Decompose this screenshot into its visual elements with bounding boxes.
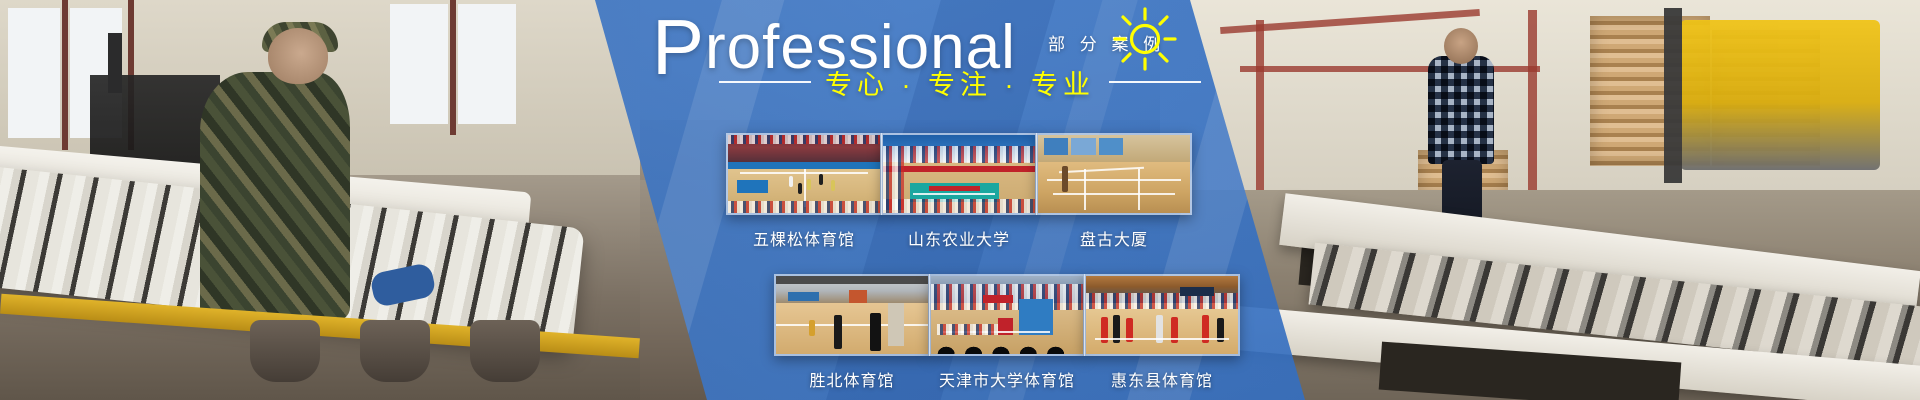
subtitle-row: 专心 · 专注 · 专业 xyxy=(595,62,1325,102)
case-thumbnail[interactable] xyxy=(726,133,882,215)
case-thumbnail[interactable] xyxy=(1036,133,1192,215)
case-card[interactable]: 惠东县体育馆 xyxy=(1084,274,1240,391)
rule-right xyxy=(1109,81,1201,83)
case-caption: 山东农业大学 xyxy=(881,226,1037,250)
case-caption: 天津市大学体育馆 xyxy=(907,367,1107,391)
subtitle: 专心 · 专注 · 专业 xyxy=(825,63,1095,102)
case-caption: 盘古大厦 xyxy=(1036,226,1192,250)
rule-left xyxy=(719,81,811,83)
case-card[interactable]: 五棵松体育馆 xyxy=(726,133,882,250)
case-caption: 惠东县体育馆 xyxy=(1084,367,1240,391)
case-thumbnail[interactable] xyxy=(929,274,1085,356)
case-card[interactable]: 盘古大厦 xyxy=(1036,133,1192,250)
case-thumbnail[interactable] xyxy=(1084,274,1240,356)
case-card[interactable]: 天津市大学体育馆 xyxy=(929,274,1107,391)
promo-banner: Professional 部 分 案 例 专心 · 专注 · xyxy=(0,0,1920,400)
case-caption: 五棵松体育馆 xyxy=(726,226,882,250)
case-thumbnail[interactable] xyxy=(881,133,1037,215)
case-thumbnail[interactable] xyxy=(774,274,930,356)
banner-content: Professional 部 分 案 例 专心 · 专注 · xyxy=(0,0,1920,400)
case-card[interactable]: 山东农业大学 xyxy=(881,133,1037,250)
